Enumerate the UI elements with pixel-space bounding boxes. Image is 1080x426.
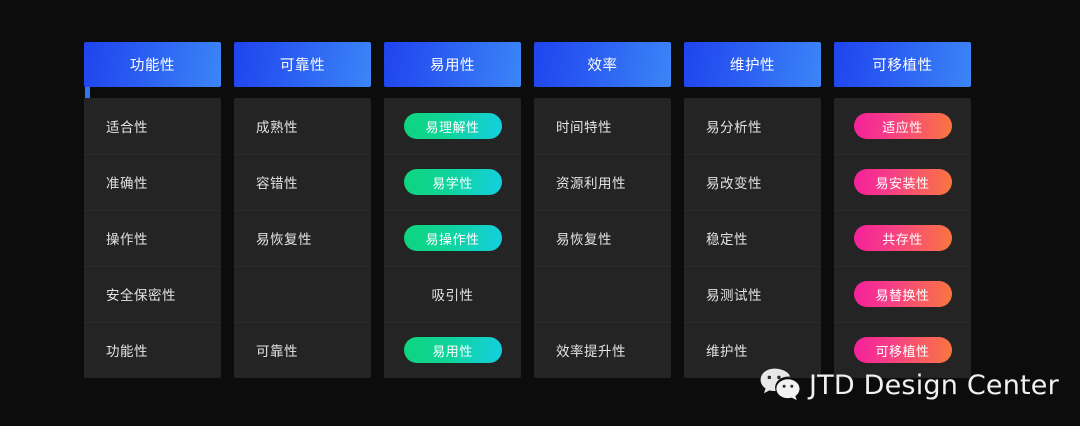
- matrix-column: 易用性易理解性易学性易操作性吸引性易用性: [384, 42, 521, 378]
- column-body: 易理解性易学性易操作性吸引性易用性: [384, 98, 521, 378]
- matrix-cell: 容错性: [234, 154, 371, 210]
- attribute-label: 易分析性: [706, 116, 762, 136]
- attribute-pill[interactable]: 易替换性: [854, 281, 952, 307]
- matrix-column: 功能性适合性准确性操作性安全保密性功能性: [84, 42, 221, 378]
- matrix-cell: 资源利用性: [534, 154, 671, 210]
- attribute-label: 易改变性: [706, 172, 762, 192]
- matrix-cell: 功能性: [84, 322, 221, 378]
- matrix-cell: 适合性: [84, 98, 221, 154]
- matrix-cell: 安全保密性: [84, 266, 221, 322]
- matrix-cell: 易操作性: [384, 210, 521, 266]
- attribute-pill[interactable]: 易学性: [404, 169, 502, 195]
- attribute-pill[interactable]: 易安装性: [854, 169, 952, 195]
- attribute-label: 可靠性: [256, 340, 298, 360]
- attribute-label: 适合性: [106, 116, 148, 136]
- matrix-cell: 吸引性: [384, 266, 521, 322]
- matrix-cell: 易用性: [384, 322, 521, 378]
- matrix-cell: 操作性: [84, 210, 221, 266]
- matrix-cell: 易学性: [384, 154, 521, 210]
- column-body: 时间特性资源利用性易恢复性效率提升性: [534, 98, 671, 378]
- matrix-cell: 易分析性: [684, 98, 821, 154]
- attribute-label: 时间特性: [556, 116, 612, 136]
- attribute-label: 效率提升性: [556, 340, 626, 360]
- attribute-label: 易恢复性: [256, 228, 312, 248]
- matrix-cell: 易安装性: [834, 154, 971, 210]
- attribute-label: 吸引性: [432, 284, 474, 304]
- attribute-label: 维护性: [706, 340, 748, 360]
- matrix-cell: 时间特性: [534, 98, 671, 154]
- matrix-column: 维护性易分析性易改变性稳定性易测试性维护性: [684, 42, 821, 378]
- quality-attribute-matrix-canvas: 功能性适合性准确性操作性安全保密性功能性可靠性成熟性容错性易恢复性可靠性易用性易…: [0, 0, 1080, 426]
- column-body: 适应性易安装性共存性易替换性可移植性: [834, 98, 971, 378]
- matrix-cell-empty: [234, 266, 371, 322]
- matrix-cell: 易理解性: [384, 98, 521, 154]
- column-header[interactable]: 可移植性: [834, 42, 971, 87]
- matrix-cell: 共存性: [834, 210, 971, 266]
- attribute-label: 操作性: [106, 228, 148, 248]
- matrix-column: 可靠性成熟性容错性易恢复性可靠性: [234, 42, 371, 378]
- matrix-cell: 易替换性: [834, 266, 971, 322]
- column-body: 成熟性容错性易恢复性可靠性: [234, 98, 371, 378]
- column-header[interactable]: 效率: [534, 42, 671, 87]
- column-header[interactable]: 可靠性: [234, 42, 371, 87]
- column-header[interactable]: 易用性: [384, 42, 521, 87]
- matrix-cell: 可靠性: [234, 322, 371, 378]
- attribute-label: 稳定性: [706, 228, 748, 248]
- matrix-cell: 适应性: [834, 98, 971, 154]
- matrix-cell: 易改变性: [684, 154, 821, 210]
- matrix-column: 效率时间特性资源利用性易恢复性效率提升性: [534, 42, 671, 378]
- quality-matrix: 功能性适合性准确性操作性安全保密性功能性可靠性成熟性容错性易恢复性可靠性易用性易…: [84, 42, 996, 378]
- matrix-cell: 可移植性: [834, 322, 971, 378]
- attribute-pill[interactable]: 适应性: [854, 113, 952, 139]
- attribute-pill[interactable]: 易用性: [404, 337, 502, 363]
- attribute-label: 易恢复性: [556, 228, 612, 248]
- matrix-cell: 准确性: [84, 154, 221, 210]
- attribute-label: 成熟性: [256, 116, 298, 136]
- matrix-cell: 易恢复性: [534, 210, 671, 266]
- attribute-label: 功能性: [106, 340, 148, 360]
- attribute-label: 准确性: [106, 172, 148, 192]
- matrix-cell: 易恢复性: [234, 210, 371, 266]
- matrix-column: 可移植性适应性易安装性共存性易替换性可移植性: [834, 42, 971, 378]
- attribute-label: 安全保密性: [106, 284, 176, 304]
- matrix-cell: 稳定性: [684, 210, 821, 266]
- matrix-cell: 易测试性: [684, 266, 821, 322]
- attribute-pill[interactable]: 易理解性: [404, 113, 502, 139]
- attribute-label: 资源利用性: [556, 172, 626, 192]
- attribute-pill[interactable]: 可移植性: [854, 337, 952, 363]
- column-body: 易分析性易改变性稳定性易测试性维护性: [684, 98, 821, 378]
- matrix-cell-empty: [534, 266, 671, 322]
- attribute-label: 容错性: [256, 172, 298, 192]
- matrix-cell: 成熟性: [234, 98, 371, 154]
- column-header[interactable]: 维护性: [684, 42, 821, 87]
- matrix-cell: 维护性: [684, 322, 821, 378]
- attribute-pill[interactable]: 共存性: [854, 225, 952, 251]
- column-body: 适合性准确性操作性安全保密性功能性: [84, 98, 221, 378]
- matrix-cell: 效率提升性: [534, 322, 671, 378]
- column-header[interactable]: 功能性: [84, 42, 221, 87]
- attribute-pill[interactable]: 易操作性: [404, 225, 502, 251]
- attribute-label: 易测试性: [706, 284, 762, 304]
